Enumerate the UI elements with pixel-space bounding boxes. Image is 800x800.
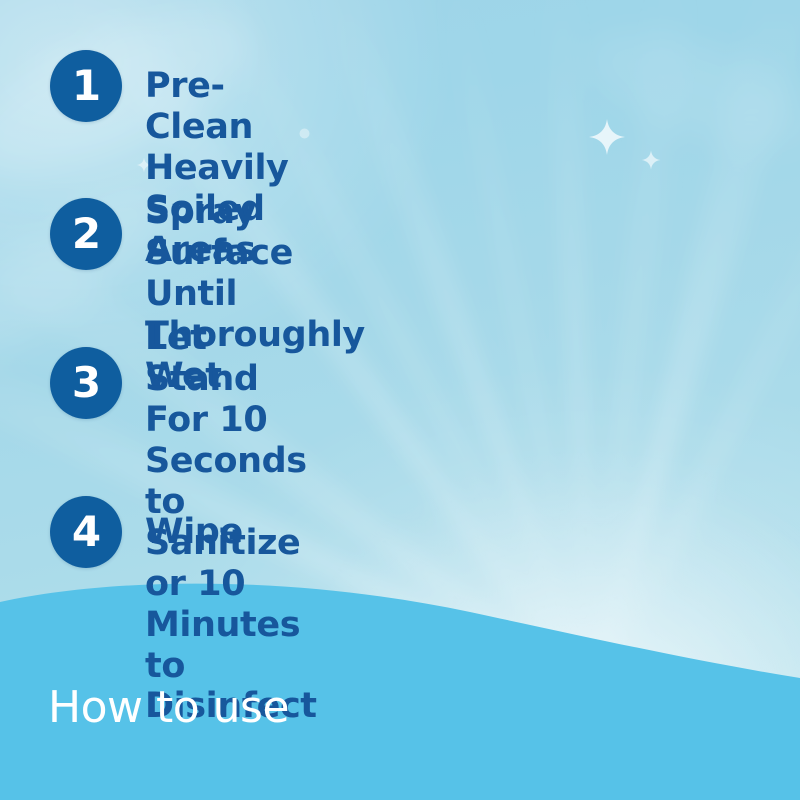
- step-number-badge-2: 2: [50, 198, 122, 270]
- step-number-badge-3: 3: [50, 347, 122, 419]
- how-to-use-poster: 1 Pre-Clean Heavily Soiled Areas 2 Spray…: [0, 0, 800, 800]
- step-number-badge-1: 1: [50, 50, 122, 122]
- page-title: How to use: [48, 686, 289, 730]
- sky-background: [0, 0, 800, 800]
- step-label-4: Wipe: [145, 512, 243, 553]
- step-number-badge-4: 4: [50, 496, 122, 568]
